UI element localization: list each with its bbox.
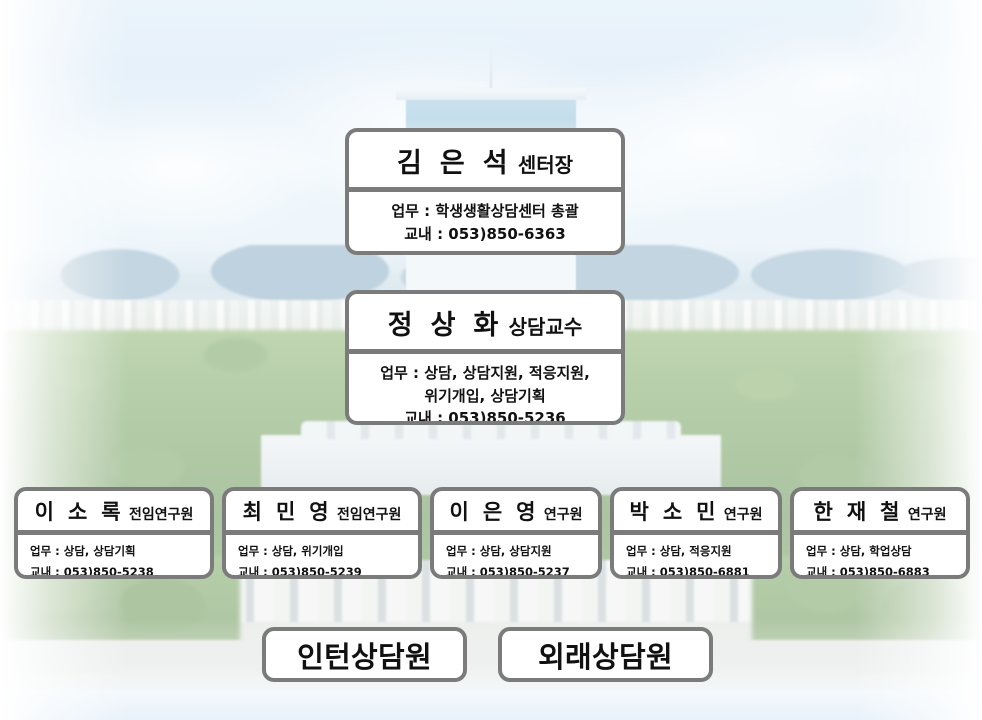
node-staff[interactable]: 한 재 철 연구원 업무 : 상담, 학업상담 교내 : 053)850-688…: [790, 487, 970, 579]
staff-phone: 교내 : 053)850-5238: [30, 562, 200, 579]
director-details: 업무 : 학생생활상담센터 총괄 교내 : 053)850-6363: [349, 192, 621, 255]
org-chart: 김 은 석 센터장 업무 : 학생생활상담센터 총괄 교내 : 053)850-…: [0, 0, 982, 720]
director-header: 김 은 석 센터장: [349, 132, 621, 187]
staff-duty: 업무 : 상담, 상담지원: [446, 541, 588, 562]
node-director[interactable]: 김 은 석 센터장 업무 : 학생생활상담센터 총괄 교내 : 053)850-…: [345, 128, 625, 255]
staff-details: 업무 : 상담, 상담지원 교내 : 053)850-5237: [434, 535, 598, 579]
node-staff[interactable]: 최 민 영 전임연구원 업무 : 상담, 위기개입 교내 : 053)850-5…: [222, 487, 422, 579]
staff-name: 이 은 영: [449, 496, 538, 526]
staff-header: 박 소 민 연구원: [614, 491, 778, 530]
director-title: 센터장: [518, 149, 573, 178]
staff-header: 이 은 영 연구원: [434, 491, 598, 530]
staff-title: 연구원: [724, 504, 763, 524]
professor-details: 업무 : 상담, 상담지원, 적응지원, 위기개입, 상담기획 교내 : 053…: [349, 354, 621, 425]
director-phone: 교내 : 053)850-6363: [363, 223, 607, 246]
staff-header: 한 재 철 연구원: [794, 491, 966, 530]
staff-title: 전임연구원: [129, 504, 193, 524]
node-staff[interactable]: 이 은 영 연구원 업무 : 상담, 상담지원 교내 : 053)850-523…: [430, 487, 602, 579]
staff-details: 업무 : 상담, 적응지원 교내 : 053)850-6881: [614, 535, 778, 579]
staff-name: 박 소 민: [629, 496, 718, 526]
professor-header: 정 상 화 상담교수: [349, 294, 621, 349]
staff-duty: 업무 : 상담, 위기개입: [238, 541, 408, 562]
staff-details: 업무 : 상담, 학업상담 교내 : 053)850-6883: [794, 535, 966, 579]
node-outside-counselor[interactable]: 외래상담원: [498, 627, 713, 682]
staff-title: 연구원: [908, 504, 947, 524]
staff-header: 이 소 록 전임연구원: [18, 491, 210, 530]
staff-name: 최 민 영: [243, 496, 332, 526]
director-name: 김 은 석: [397, 141, 512, 180]
staff-title: 전임연구원: [337, 504, 401, 524]
staff-phone: 교내 : 053)850-5237: [446, 562, 588, 579]
professor-name: 정 상 화: [388, 303, 503, 342]
professor-duty-line-1: 업무 : 상담, 상담지원, 적응지원,: [363, 362, 607, 385]
staff-name: 이 소 록: [35, 496, 124, 526]
director-duty: 업무 : 학생생활상담센터 총괄: [363, 200, 607, 223]
node-intern-counselor[interactable]: 인턴상담원: [262, 627, 467, 682]
staff-duty: 업무 : 상담, 적응지원: [626, 541, 768, 562]
staff-duty: 업무 : 상담, 학업상담: [806, 541, 956, 562]
staff-details: 업무 : 상담, 상담기획 교내 : 053)850-5238: [18, 535, 210, 579]
professor-title: 상담교수: [509, 311, 583, 340]
node-staff[interactable]: 이 소 록 전임연구원 업무 : 상담, 상담기획 교내 : 053)850-5…: [14, 487, 214, 579]
staff-phone: 교내 : 053)850-6881: [626, 562, 768, 579]
professor-phone: 교내 : 053)850-5236: [363, 407, 607, 425]
professor-duty-line-2: 위기개입, 상담기획: [363, 385, 607, 408]
staff-details: 업무 : 상담, 위기개입 교내 : 053)850-5239: [226, 535, 418, 579]
staff-duty: 업무 : 상담, 상담기획: [30, 541, 200, 562]
staff-title: 연구원: [544, 504, 583, 524]
node-staff[interactable]: 박 소 민 연구원 업무 : 상담, 적응지원 교내 : 053)850-688…: [610, 487, 782, 579]
staff-phone: 교내 : 053)850-6883: [806, 562, 956, 579]
staff-name: 한 재 철: [813, 496, 902, 526]
staff-phone: 교내 : 053)850-5239: [238, 562, 408, 579]
node-counseling-professor[interactable]: 정 상 화 상담교수 업무 : 상담, 상담지원, 적응지원, 위기개입, 상담…: [345, 290, 625, 425]
staff-header: 최 민 영 전임연구원: [226, 491, 418, 530]
